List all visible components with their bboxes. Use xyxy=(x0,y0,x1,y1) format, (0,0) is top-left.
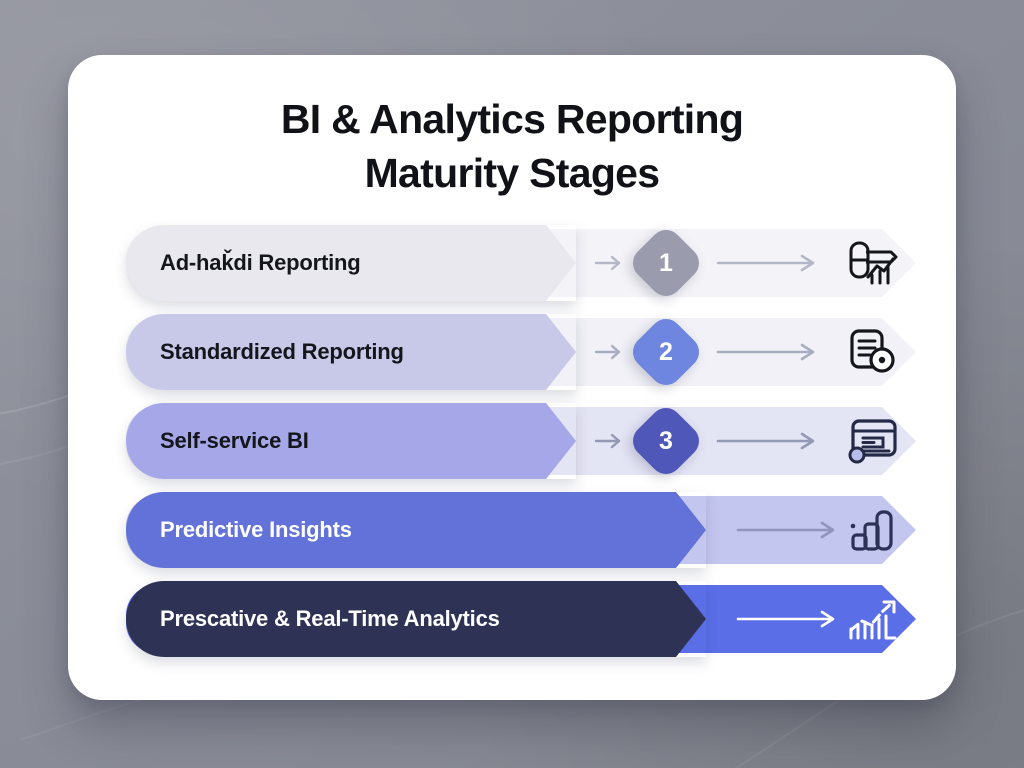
stage-connector-arrow-long xyxy=(716,253,820,273)
stage-number: 1 xyxy=(638,235,694,291)
stage-connector-arrow-small xyxy=(594,343,624,361)
growth-trend-icon xyxy=(842,591,904,647)
stage-bar[interactable]: Ad-haǩdi Reporting xyxy=(126,225,576,301)
stage-row[interactable]: Standardized Reporting 2 xyxy=(126,314,916,390)
page-title: BI & Analytics Reporting Maturity Stages xyxy=(68,92,956,200)
stage-row[interactable]: Ad-haǩdi Reporting 1 xyxy=(126,225,916,301)
stage-label: Predictive Insights xyxy=(126,517,352,543)
stage-bar[interactable]: Prescative & Real-Time Analytics xyxy=(126,581,706,657)
stage-number-badge[interactable]: 2 xyxy=(626,312,705,391)
stage-connector-arrow-long xyxy=(716,431,820,451)
stage-bar[interactable]: Standardized Reporting xyxy=(126,314,576,390)
stage-number: 2 xyxy=(638,324,694,380)
stage-label: Standardized Reporting xyxy=(126,339,404,365)
infographic-card: BI & Analytics Reporting Maturity Stages… xyxy=(68,55,956,700)
stage-bar[interactable]: Predictive Insights xyxy=(126,492,706,568)
stage-row[interactable]: Predictive Insights xyxy=(126,492,916,568)
bar-chart-icon xyxy=(842,502,904,558)
stage-connector-arrow-long xyxy=(736,609,840,629)
stage-number-badge[interactable]: 1 xyxy=(626,223,705,302)
stage-number: 3 xyxy=(638,413,694,469)
maturity-stage-list: Ad-haǩdi Reporting 1 Standardized Report… xyxy=(126,225,916,670)
stage-connector-arrow-small xyxy=(594,432,624,450)
chart-document-icon xyxy=(842,235,904,291)
stage-label: Prescative & Real-Time Analytics xyxy=(126,606,500,632)
stage-connector-arrow-long xyxy=(736,520,840,540)
page-title-line-2: Maturity Stages xyxy=(68,146,956,200)
stage-label: Self-service BI xyxy=(126,428,309,454)
stage-row[interactable]: Prescative & Real-Time Analytics xyxy=(126,581,916,657)
stage-number-badge[interactable]: 3 xyxy=(626,401,705,480)
dashboard-window-icon xyxy=(842,413,904,469)
stage-label: Ad-haǩdi Reporting xyxy=(126,250,361,276)
stage-connector-arrow-long xyxy=(716,342,820,362)
stage-row[interactable]: Self-service BI 3 xyxy=(126,403,916,479)
document-search-icon xyxy=(842,324,904,380)
stage-bar[interactable]: Self-service BI xyxy=(126,403,576,479)
stage-connector-arrow-small xyxy=(594,254,624,272)
page-title-line-1: BI & Analytics Reporting xyxy=(68,92,956,146)
